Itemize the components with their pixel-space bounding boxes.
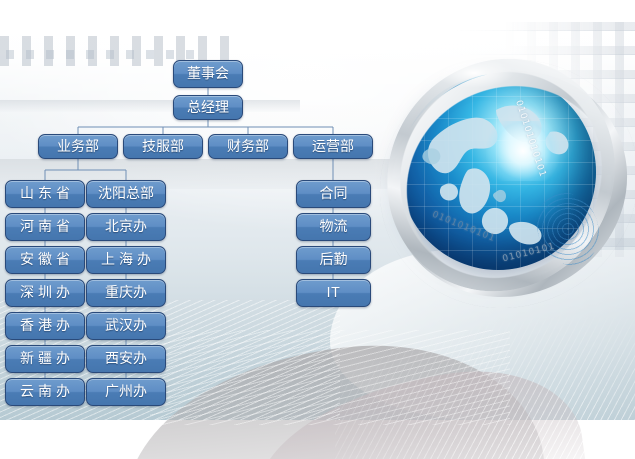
node-contract[interactable]: 合同 — [296, 180, 371, 208]
node-support[interactable]: 后勤 — [296, 246, 371, 274]
node-logistics[interactable]: 物流 — [296, 213, 371, 241]
node-guangzhou[interactable]: 广州办 — [86, 378, 166, 406]
node-anhui[interactable]: 安徽省 — [5, 246, 85, 274]
node-dept-operations[interactable]: 运营部 — [293, 134, 373, 159]
node-shenzhen[interactable]: 深圳办 — [5, 279, 85, 307]
node-dept-techsupport[interactable]: 技服部 — [123, 134, 203, 159]
node-xinjiang[interactable]: 新疆办 — [5, 345, 85, 373]
node-wuhan[interactable]: 武汉办 — [86, 312, 166, 340]
node-shandong[interactable]: 山东省 — [5, 180, 85, 208]
node-board[interactable]: 董事会 — [173, 60, 243, 88]
node-chongqing[interactable]: 重庆办 — [86, 279, 166, 307]
org-chart: 董事会 总经理 业务部 技服部 财务部 运营部 山东省 河南省 安徽省 深圳办 … — [0, 0, 635, 420]
node-dept-finance[interactable]: 财务部 — [208, 134, 288, 159]
node-xian[interactable]: 西安办 — [86, 345, 166, 373]
node-shenyang-hq[interactable]: 沈阳总部 — [86, 180, 166, 208]
slide-canvas: 010101010101 0101010101 01010101 — [0, 0, 635, 459]
node-general-manager[interactable]: 总经理 — [173, 95, 243, 120]
node-shanghai[interactable]: 上海办 — [86, 246, 166, 274]
node-henan[interactable]: 河南省 — [5, 213, 85, 241]
node-hongkong[interactable]: 香港办 — [5, 312, 85, 340]
node-it[interactable]: IT — [296, 279, 371, 307]
node-dept-business[interactable]: 业务部 — [38, 134, 118, 159]
node-beijing[interactable]: 北京办 — [86, 213, 166, 241]
node-yunnan[interactable]: 云南办 — [5, 378, 85, 406]
